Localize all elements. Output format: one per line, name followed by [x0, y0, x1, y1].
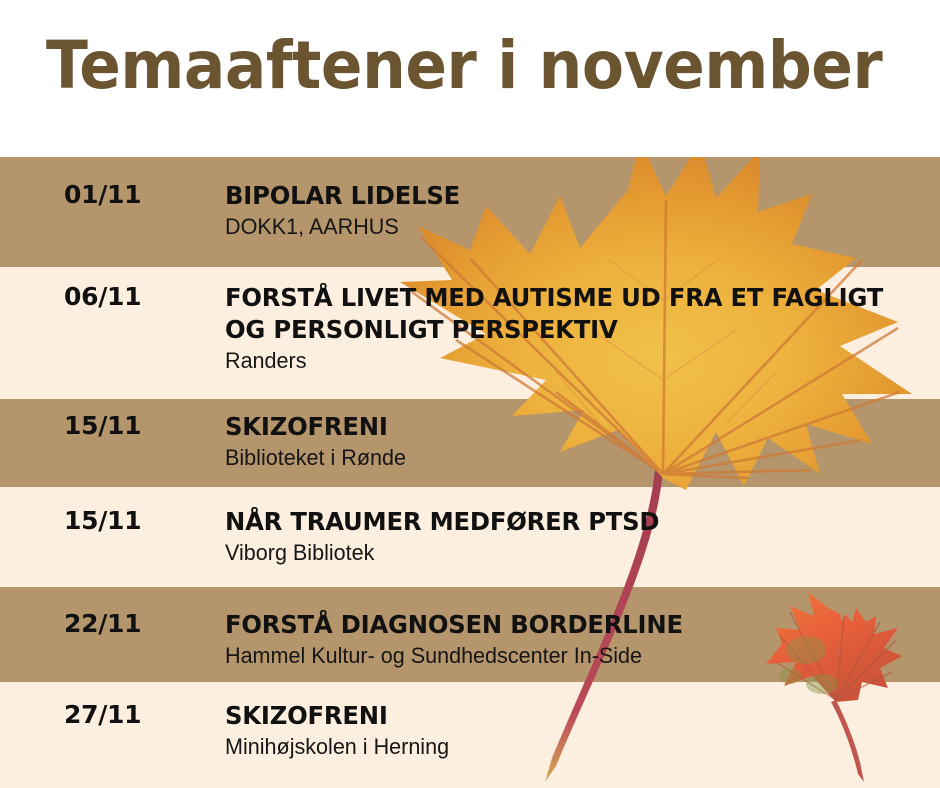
event-info: NÅR TRAUMER MEDFØRER PTSD Viborg Bibliot… — [225, 506, 925, 567]
event-info: FORSTÅ LIVET MED AUTISME UD FRA ET FAGLI… — [225, 282, 925, 375]
event-title: BIPOLAR LIDELSE — [225, 180, 904, 212]
event-title: NÅR TRAUMER MEDFØRER PTSD — [225, 506, 904, 538]
event-location: Hammel Kultur- og Sundhedscenter In-Side — [225, 642, 911, 670]
event-date: 27/11 — [64, 700, 214, 729]
event-title: FORSTÅ LIVET MED AUTISME UD FRA ET FAGLI… — [225, 282, 904, 346]
event-date: 22/11 — [64, 609, 214, 638]
poster: Temaaftener i november 01/11 BIPOLAR LID… — [0, 0, 940, 788]
event-location: Randers — [225, 347, 911, 375]
event-location: Biblioteket i Rønde — [225, 444, 911, 472]
event-title: SKIZOFRENI — [225, 700, 904, 732]
event-title: SKIZOFRENI — [225, 411, 904, 443]
event-date: 15/11 — [64, 506, 214, 535]
event-date: 01/11 — [64, 180, 214, 209]
event-location: Minihøjskolen i Herning — [225, 733, 911, 761]
event-date: 06/11 — [64, 282, 214, 311]
page-title: Temaaftener i november — [46, 28, 882, 104]
event-title: FORSTÅ DIAGNOSEN BORDERLINE — [225, 609, 904, 641]
event-info: BIPOLAR LIDELSE DOKK1, AARHUS — [225, 180, 925, 241]
event-location: Viborg Bibliotek — [225, 539, 911, 567]
event-location: DOKK1, AARHUS — [225, 213, 911, 241]
event-info: SKIZOFRENI Biblioteket i Rønde — [225, 411, 925, 472]
poster-header: Temaaftener i november — [0, 0, 940, 157]
event-date: 15/11 — [64, 411, 214, 440]
event-info: SKIZOFRENI Minihøjskolen i Herning — [225, 700, 925, 761]
event-info: FORSTÅ DIAGNOSEN BORDERLINE Hammel Kultu… — [225, 609, 925, 670]
